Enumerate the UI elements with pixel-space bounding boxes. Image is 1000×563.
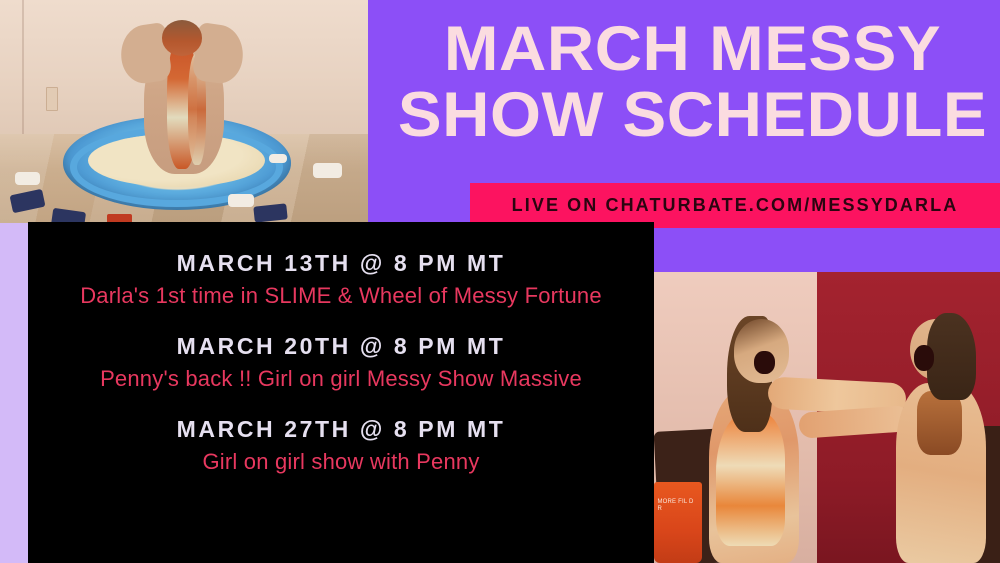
live-link-text: LIVE ON CHATURBATE.COM/MESSYDARLA [512,195,959,216]
photo-wall-corner [22,0,24,138]
photo-person1-mouth [754,351,775,374]
schedule-description: Penny's back !! Girl on girl Messy Show … [28,366,654,392]
photo-floor-debris [228,194,254,207]
schedule-date: MARCH 27TH @ 8 PM MT [28,416,654,443]
title-line-1: MARCH MESSY [388,16,996,82]
person-in-kiddie-pool-photo [0,0,368,223]
schedule-panel: MARCH 13TH @ 8 PM MT Darla's 1st time in… [28,222,654,563]
schedule-description: Darla's 1st time in SLIME & Wheel of Mes… [28,283,654,309]
poster: MORE FIL D R MARCH MESSY SHOW SCHEDULE L… [0,0,1000,563]
photo-person2-top [917,391,962,455]
photo-person2-mouth [914,345,935,371]
schedule-date: MARCH 13TH @ 8 PM MT [28,250,654,277]
schedule-entry: MARCH 13TH @ 8 PM MT Darla's 1st time in… [28,250,654,309]
schedule-entry: MARCH 27TH @ 8 PM MT Girl on girl show w… [28,416,654,475]
photo-floor-debris [269,154,287,163]
photo-floor-debris [313,163,342,179]
schedule-date: MARCH 20TH @ 8 PM MT [28,333,654,360]
two-people-messy-photo: MORE FIL D R [654,272,1000,563]
schedule-description: Girl on girl show with Penny [28,449,654,475]
photo-wall-outlet [46,87,58,111]
photo-floor-debris [15,172,41,185]
title-line-2: SHOW SCHEDULE [388,82,996,148]
schedule-entry: MARCH 20TH @ 8 PM MT Penny's back !! Gir… [28,333,654,392]
photo-person2-hair [927,313,975,400]
photo-bucket-label: MORE FIL D R [657,499,699,546]
photo-person-head [162,20,202,56]
page-title: MARCH MESSY SHOW SCHEDULE [400,16,985,148]
